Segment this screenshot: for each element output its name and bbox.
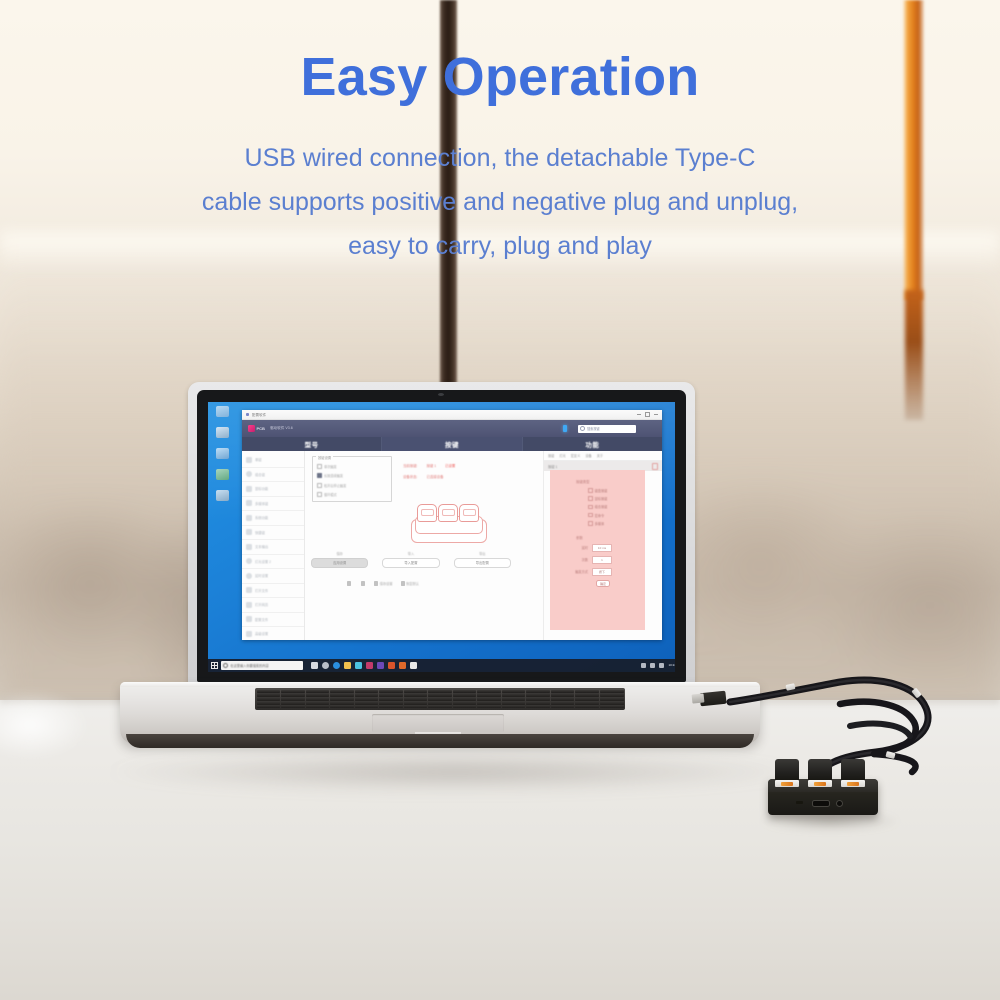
battery-icon[interactable] — [659, 663, 664, 668]
subtitle-line-3: easy to carry, plug and play — [0, 224, 1000, 268]
app-right-panel: 按键 灯光 宏定义 设备 关于 按键 1 按键类型 — [543, 451, 662, 640]
web-icon — [246, 602, 252, 608]
checkbox-row[interactable]: 组合按键 — [588, 504, 645, 509]
app-title-bar[interactable]: 配置软件 — [242, 410, 662, 420]
search-icon — [223, 663, 228, 668]
keyboard-icon — [246, 457, 252, 463]
status-badge: 已设置 — [445, 463, 455, 468]
field-row[interactable]: 触发方式按下 — [574, 568, 645, 576]
option-label: 单次触发 — [324, 464, 337, 469]
laptop-keyboard[interactable] — [255, 688, 625, 710]
sidebar-item-media[interactable]: 多媒体键 — [242, 497, 304, 512]
delay-input[interactable]: 10 ms — [592, 544, 612, 552]
tab-keys[interactable]: 按键 — [382, 437, 522, 451]
sidebar-item-label: 单键 — [255, 457, 262, 462]
device-switch-2 — [808, 780, 832, 787]
keypad-key-3[interactable] — [459, 504, 479, 522]
right-tab-light[interactable]: 灯光 — [559, 453, 565, 458]
tab-functions[interactable]: 功能 — [523, 437, 662, 451]
text-icon — [246, 544, 252, 550]
device-slot-port[interactable] — [796, 801, 803, 804]
keyboard-row — [257, 690, 624, 693]
keycap-face — [463, 509, 476, 516]
bottom-toolbar[interactable]: 保存设置 恢复默认 — [347, 581, 419, 586]
export-button[interactable]: 导出配置 — [454, 558, 511, 568]
upload-icon — [347, 581, 351, 586]
clock-icon — [246, 573, 252, 579]
toolbar-save[interactable]: 保存设置 — [374, 581, 392, 586]
media-icon — [246, 500, 252, 506]
logo-text: PCB — [257, 426, 265, 431]
office-icon[interactable] — [399, 662, 406, 669]
edge-icon[interactable] — [333, 662, 340, 669]
macro-keypad-device[interactable] — [760, 745, 900, 825]
network-icon[interactable] — [641, 663, 646, 668]
right-tab-device[interactable]: 设备 — [585, 453, 591, 458]
cortana-icon[interactable] — [322, 662, 329, 669]
params-title: 参数 — [576, 535, 645, 540]
keypad-preview-illustration — [405, 503, 490, 545]
desktop-icon-recycle-bin[interactable] — [216, 427, 229, 438]
checkbox-label: 组合按键 — [595, 504, 608, 509]
store-icon[interactable] — [355, 662, 362, 669]
checkbox-icon[interactable] — [588, 488, 593, 493]
checkbox-icon[interactable] — [588, 496, 593, 501]
option-row[interactable]: 单次触发 — [317, 464, 387, 469]
keyboard-row — [257, 705, 624, 708]
lock-icon — [246, 515, 252, 521]
taskbar-search-input[interactable]: 在这里输入你要搜索的内容 — [221, 661, 303, 670]
checkbox-label: 多媒体 — [595, 521, 605, 526]
sidebar-item-label: 文本输出 — [255, 544, 268, 549]
import-button-wrap: 导入 导入配置 — [382, 551, 439, 568]
app-window[interactable]: 配置软件 PCB 驱动软件 V3.6 — [242, 410, 662, 640]
volume-icon[interactable] — [650, 663, 655, 668]
info-value: 按键 1 — [427, 463, 437, 468]
checkbox-icon[interactable] — [588, 505, 593, 510]
key-type-checkbox-list[interactable]: 键盘按键 鼠标按键 组合按键 宏命令 多媒体 — [588, 488, 645, 526]
taskbar-tray[interactable]: 10:24 — [641, 663, 675, 668]
sidebar-item-label: 打开网页 — [255, 602, 268, 607]
option-label: 循环模式 — [324, 492, 337, 497]
switch-led-icon — [781, 782, 793, 786]
desktop-icon-folder[interactable] — [216, 448, 229, 459]
taskbar-clock[interactable]: 10:24 — [668, 664, 675, 667]
device-round-port[interactable] — [836, 800, 843, 807]
checkbox-icon-checked[interactable] — [317, 473, 322, 478]
media-icon[interactable] — [388, 662, 395, 669]
checkbox-label: 宏命令 — [595, 513, 605, 518]
keyboard-row — [257, 701, 624, 704]
count-input[interactable]: 1 — [592, 556, 612, 564]
sidebar-item-system[interactable]: 系统功能 — [242, 511, 304, 526]
sidebar-item-open-web[interactable]: 打开网页 — [242, 598, 304, 613]
right-tab-macro[interactable]: 宏定义 — [571, 453, 581, 458]
laptop-trackpad[interactable] — [372, 714, 504, 732]
webcam-icon — [438, 393, 444, 396]
sidebar-item-advanced[interactable]: 高级设置 — [242, 627, 304, 640]
tab-keys-label: 按键 — [445, 439, 459, 449]
trigger-select[interactable]: 按下 — [592, 568, 612, 576]
maximize-icon[interactable] — [645, 412, 650, 417]
subtitle-line-2: cable supports positive and negative plu… — [0, 180, 1000, 224]
laptop: 配置软件 PCB 驱动软件 V3.6 — [120, 382, 760, 772]
key-type-title: 按键类型 — [576, 479, 645, 484]
option-row[interactable]: 松开后停止触发 — [317, 483, 387, 488]
groupbox-title: 按键设置 — [316, 455, 333, 460]
mouse-icon — [246, 486, 252, 492]
checkbox-icon[interactable] — [588, 513, 593, 518]
bluetooth-icon[interactable] — [563, 425, 567, 432]
search-input[interactable]: 搜索按键 — [578, 425, 636, 433]
option-row[interactable]: 长按连续触发 — [317, 473, 387, 478]
desk-highlight — [0, 690, 90, 760]
close-icon[interactable] — [654, 414, 658, 415]
sidebar-item-single-key[interactable]: 单键 — [242, 453, 304, 468]
checkbox-label: 鼠标按键 — [595, 496, 608, 501]
keypad-key-2[interactable] — [438, 504, 458, 522]
checkbox-row[interactable]: 多媒体 — [588, 521, 645, 526]
laptop-base-top-edge — [120, 682, 760, 687]
desktop-icon-app[interactable] — [216, 490, 229, 501]
sidebar-item-label: 灯光设置 2 — [255, 559, 271, 564]
option-label: 长按连续触发 — [324, 473, 343, 478]
sidebar-item-profile[interactable]: 配置文件 — [242, 613, 304, 628]
tab-model[interactable]: 型号 — [242, 437, 382, 451]
window-controls[interactable] — [637, 412, 658, 417]
sidebar-item-label: 鼠标功能 — [255, 486, 268, 491]
toolbar-reset[interactable]: 恢复默认 — [401, 581, 419, 586]
shortcut-icon — [246, 529, 252, 535]
sidebar-item-label: 多媒体键 — [255, 501, 268, 506]
brand-logo: PCB — [248, 425, 265, 432]
app-icon — [246, 413, 249, 416]
photos-icon[interactable] — [377, 662, 384, 669]
desktop-icon-browser[interactable] — [216, 469, 229, 480]
keypad-key-1[interactable] — [417, 504, 437, 522]
switch-led-icon — [814, 782, 826, 786]
taskbar-pinned-icons[interactable] — [311, 662, 417, 669]
desktop-icons[interactable] — [212, 406, 236, 511]
file-icon — [246, 587, 252, 593]
task-view-icon[interactable] — [311, 662, 318, 669]
field-row[interactable]: 次数1 — [574, 556, 645, 564]
checkbox-icon[interactable] — [317, 492, 322, 497]
sidebar-item-label: 延时设置 — [255, 573, 268, 578]
sidebar-item-combo-key[interactable]: 组合键 — [242, 468, 304, 483]
app-tab-bar[interactable]: 型号 按键 功能 — [242, 437, 662, 451]
status-info-block: 当前按键: 按键 1 已设置 设备状态: 已连接设备 — [403, 463, 508, 485]
save-icon — [374, 581, 378, 586]
desktop-icon-this-pc[interactable] — [216, 406, 229, 417]
device-switch-1 — [775, 780, 799, 787]
search-icon — [580, 426, 585, 431]
windows-taskbar[interactable]: 在这里输入你要搜索的内容 — [208, 659, 675, 672]
poster-canvas: Easy Operation USB wired connection, the… — [0, 0, 1000, 1000]
sidebar-item-mouse[interactable]: 鼠标功能 — [242, 482, 304, 497]
right-panel-tabs[interactable]: 按键 灯光 宏定义 设备 关于 — [544, 451, 662, 461]
tab-functions-label: 功能 — [585, 439, 599, 449]
gear-icon — [246, 631, 252, 637]
page-subtitle: USB wired connection, the detachable Typ… — [0, 136, 1000, 268]
page-title: Easy Operation — [0, 46, 1000, 108]
info-row: 当前按键: 按键 1 已设置 — [403, 463, 508, 468]
light-icon — [246, 558, 252, 564]
key-settings-groupbox: 按键设置 单次触发 长按连续触发 松开后停止触发 循环模式 — [312, 456, 392, 502]
checkbox-label: 键盘按键 — [595, 488, 608, 493]
laptop-screen: 配置软件 PCB 驱动软件 V3.6 — [208, 402, 675, 672]
profile-icon — [246, 616, 252, 622]
check-icon — [361, 581, 365, 586]
reset-icon — [401, 581, 405, 586]
mail-icon[interactable] — [366, 662, 373, 669]
key-config-pink-panel: 按键类型 键盘按键 鼠标按键 组合按键 宏命令 多媒体 参数 延时10 ms — [550, 470, 645, 630]
app-title-text: 配置软件 — [252, 412, 266, 417]
apply-button-caption: 保存 — [311, 551, 368, 556]
keyboard-row — [257, 697, 624, 700]
toolbar-label: 恢复默认 — [406, 581, 419, 586]
confirm-button[interactable]: 确定 — [596, 580, 610, 588]
action-button-row: 保存 应用设置 导入 导入配置 导出 导出配置 — [311, 551, 511, 568]
right-tab-about[interactable]: 关于 — [597, 453, 603, 458]
subtitle-line-1: USB wired connection, the detachable Typ… — [0, 136, 1000, 180]
field-label: 延时 — [574, 545, 588, 550]
checkbox-icon[interactable] — [588, 521, 593, 526]
laptop-base — [120, 682, 760, 744]
app-icon[interactable] — [410, 662, 417, 669]
tab-model-label: 型号 — [305, 439, 319, 449]
info-label: 当前按键: — [403, 463, 418, 468]
checkbox-icon[interactable] — [317, 483, 322, 488]
sidebar-item-label: 打开文件 — [255, 588, 268, 593]
sidebar-item-light[interactable]: 灯光设置 2 — [242, 555, 304, 570]
field-label: 触发方式 — [574, 569, 588, 574]
sidebar-item-label: 组合键 — [255, 472, 265, 477]
option-label: 松开后停止触发 — [324, 483, 346, 488]
params-fields[interactable]: 延时10 ms 次数1 触发方式按下 — [574, 544, 645, 576]
sidebar-item-label: 快捷键 — [255, 530, 265, 535]
device-switch-3 — [841, 780, 865, 787]
sidebar-item-label: 系统功能 — [255, 515, 268, 520]
app-sidebar[interactable]: 单键 组合键 鼠标功能 多媒体键 系统功能 快捷键 文本输出 灯光设置 2 延时… — [242, 451, 305, 640]
curtain-accent-bar-lower — [905, 290, 923, 420]
type-c-plug-tip — [692, 693, 705, 703]
selected-key-label: 按键 1 — [548, 464, 557, 469]
logo-mark-icon — [248, 425, 255, 432]
app-header: PCB 驱动软件 V3.6 搜索按键 — [242, 420, 662, 437]
right-tab-keys[interactable]: 按键 — [548, 453, 554, 458]
macro-icon — [246, 471, 252, 477]
keycap-face — [421, 509, 434, 516]
import-button-caption: 导入 — [382, 551, 439, 556]
app-main-panel: 按键设置 单次触发 长按连续触发 松开后停止触发 循环模式 当前按键: 按键 1… — [305, 451, 543, 640]
field-row[interactable]: 延时10 ms — [574, 544, 645, 552]
info-row: 设备状态: 已连接设备 — [403, 474, 508, 479]
keycap-face — [442, 509, 455, 516]
sidebar-item-shortcut[interactable]: 快捷键 — [242, 526, 304, 541]
sidebar-item-text[interactable]: 文本输出 — [242, 540, 304, 555]
toolbar-label: 保存设置 — [380, 581, 393, 586]
sidebar-item-label: 高级设置 — [255, 631, 268, 636]
taskbar-search-placeholder: 在这里输入你要搜索的内容 — [230, 663, 268, 668]
toolbar-check[interactable] — [361, 581, 367, 586]
trash-icon[interactable] — [652, 463, 658, 470]
app-body: 单键 组合键 鼠标功能 多媒体键 系统功能 快捷键 文本输出 灯光设置 2 延时… — [242, 451, 662, 640]
apply-button[interactable]: 应用设置 — [311, 558, 368, 568]
explorer-icon[interactable] — [344, 662, 351, 669]
checkbox-row[interactable]: 宏命令 — [588, 513, 645, 518]
checkbox-icon[interactable] — [317, 464, 322, 469]
checkbox-row[interactable]: 键盘按键 — [588, 488, 645, 493]
windows-start-icon[interactable] — [211, 662, 218, 669]
export-button-wrap: 导出 导出配置 — [454, 551, 511, 568]
app-version-text: 驱动软件 V3.6 — [270, 426, 293, 431]
export-button-caption: 导出 — [454, 551, 511, 556]
search-placeholder: 搜索按键 — [587, 426, 600, 431]
info-value: 已连接设备 — [427, 474, 444, 479]
sidebar-item-delay[interactable]: 延时设置 — [242, 569, 304, 584]
info-label: 设备状态: — [403, 474, 418, 479]
import-button[interactable]: 导入配置 — [382, 558, 439, 568]
device-type-c-port[interactable] — [812, 800, 830, 807]
checkbox-row[interactable]: 鼠标按键 — [588, 496, 645, 501]
option-row[interactable]: 循环模式 — [317, 492, 387, 497]
toolbar-upload[interactable] — [347, 581, 353, 586]
sidebar-item-open-file[interactable]: 打开文件 — [242, 584, 304, 599]
keyboard-row — [257, 693, 624, 696]
minimize-icon[interactable] — [637, 414, 641, 415]
field-label: 次数 — [574, 557, 588, 562]
apply-button-wrap: 保存 应用设置 — [311, 551, 368, 568]
laptop-underside — [126, 734, 754, 748]
switch-led-icon — [847, 782, 859, 786]
sidebar-item-label: 配置文件 — [255, 617, 268, 622]
